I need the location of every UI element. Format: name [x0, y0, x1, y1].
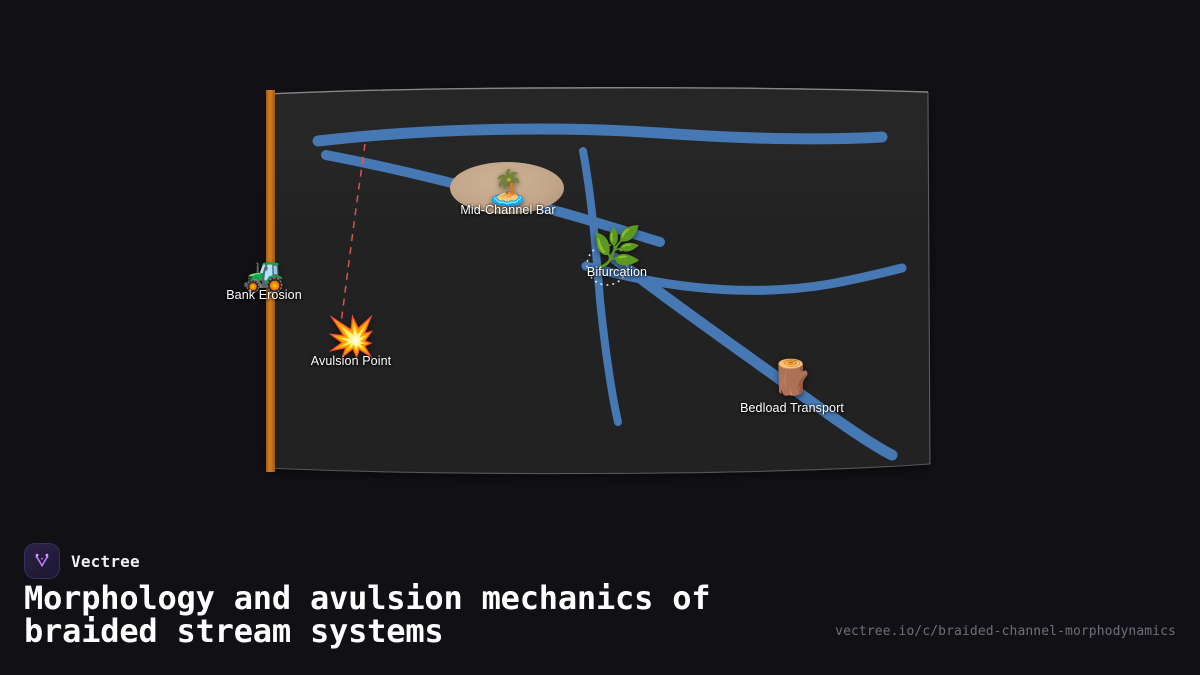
vectree-branch-logo-icon [24, 543, 60, 579]
marker-bedload-transport[interactable]: 🪵Bedload Transport [771, 361, 813, 395]
brand-name: Vectree [71, 552, 140, 571]
diagram-stage: 🚜Bank Erosion🏝️Mid-Channel Bar💥Avulsion … [0, 0, 1200, 520]
marker-label-bedload-transport: Bedload Transport [740, 402, 844, 415]
marker-mid-channel-bar[interactable]: 🏝️Mid-Channel Bar [487, 171, 529, 205]
marker-bank-erosion[interactable]: 🚜Bank Erosion [243, 258, 285, 292]
marker-label-bank-erosion: Bank Erosion [226, 289, 302, 302]
desert-island-icon: 🏝️ [487, 171, 529, 205]
marker-label-avulsion-point: Avulsion Point [311, 355, 391, 368]
brand-row: Vectree [24, 543, 140, 579]
footer-bar: Vectree Morphology and avulsion mechanic… [0, 520, 1200, 675]
marker-label-bifurcation: Bifurcation [587, 266, 647, 279]
herb-icon: 🌿 [592, 228, 642, 268]
marker-avulsion-point[interactable]: 💥Avulsion Point [326, 317, 376, 357]
tractor-icon: 🚜 [243, 258, 285, 292]
marker-bifurcation[interactable]: 🌿Bifurcation [592, 228, 642, 268]
wood-log-icon: 🪵 [771, 361, 813, 395]
page-title: Morphology and avulsion mechanics of bra… [24, 582, 824, 648]
marker-label-mid-channel-bar: Mid-Channel Bar [460, 204, 555, 217]
collision-icon: 💥 [326, 317, 376, 357]
source-url: vectree.io/c/braided-channel-morphodynam… [835, 624, 1176, 639]
